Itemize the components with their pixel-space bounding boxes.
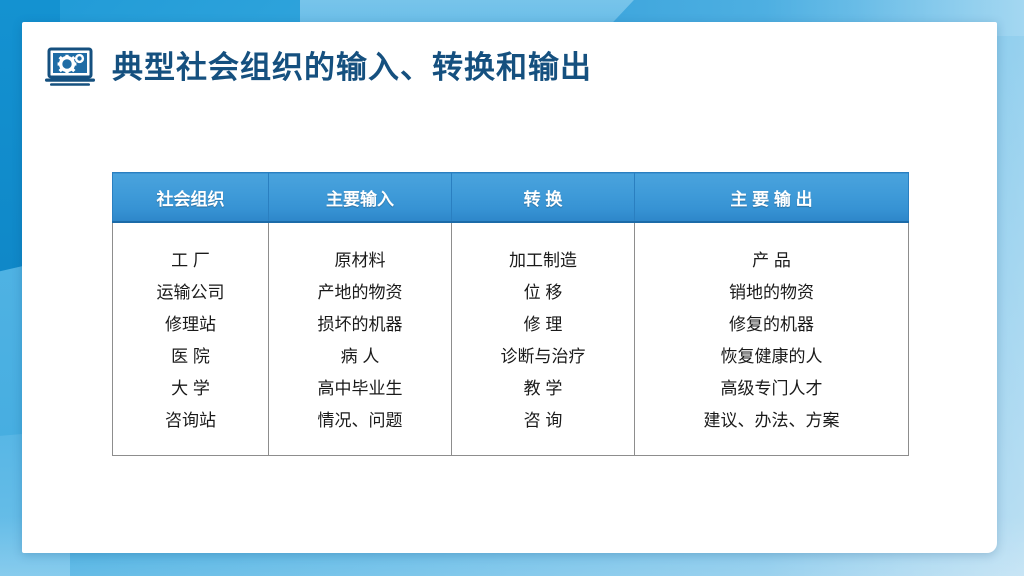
table-cell-transformation: 加工制造 位 移 修 理 诊断与治疗 教 学 咨 询 — [452, 222, 635, 456]
list-item: 病 人 — [275, 341, 445, 373]
list-item: 情况、问题 — [275, 405, 445, 437]
list-item: 工 厂 — [119, 245, 262, 277]
column-header-label: 主要输入 — [269, 185, 451, 210]
table-header: 社会组织 主要输入 转 换 主 要 输 出 — [113, 173, 909, 223]
organization-table-wrapper: 社会组织 主要输入 转 换 主 要 输 出 — [112, 172, 908, 456]
content-card: 典型社会组织的输入、转换和输出 社会组织 主要输入 — [22, 22, 997, 553]
page-title-row: 典型社会组织的输入、转换和输出 — [44, 47, 592, 87]
laptop-gear-icon — [44, 47, 98, 87]
page-title: 典型社会组织的输入、转换和输出 — [112, 52, 592, 83]
list-item: 咨 询 — [458, 405, 628, 437]
table-header-row: 社会组织 主要输入 转 换 主 要 输 出 — [113, 173, 909, 223]
list-item: 销地的物资 — [641, 277, 902, 309]
table-cell-main-output: 产 品 销地的物资 修复的机器 恢复健康的人 高级专门人才 建议、办法、方案 — [635, 222, 909, 456]
table-cell-main-input: 原材料 产地的物资 损坏的机器 病 人 高中毕业生 情况、问题 — [269, 222, 452, 456]
column-header-main-input: 主要输入 — [269, 173, 452, 223]
column-header-transformation: 转 换 — [452, 173, 635, 223]
column-header-label: 转 换 — [452, 185, 634, 210]
table-body: 工 厂 运输公司 修理站 医 院 大 学 咨询站 原材料 — [113, 222, 909, 456]
list-item: 原材料 — [275, 245, 445, 277]
column-header-label: 主 要 输 出 — [635, 185, 908, 210]
cell-item-list: 产 品 销地的物资 修复的机器 恢复健康的人 高级专门人才 建议、办法、方案 — [641, 245, 902, 437]
list-item: 位 移 — [458, 277, 628, 309]
cell-item-list: 原材料 产地的物资 损坏的机器 病 人 高中毕业生 情况、问题 — [275, 245, 445, 437]
list-item: 医 院 — [119, 341, 262, 373]
list-item: 教 学 — [458, 373, 628, 405]
cell-item-list: 加工制造 位 移 修 理 诊断与治疗 教 学 咨 询 — [458, 245, 628, 437]
column-header-social-organization: 社会组织 — [113, 173, 269, 223]
list-item: 修理站 — [119, 309, 262, 341]
table-row: 工 厂 运输公司 修理站 医 院 大 学 咨询站 原材料 — [113, 222, 909, 456]
list-item: 诊断与治疗 — [458, 341, 628, 373]
list-item: 运输公司 — [119, 277, 262, 309]
list-item: 高级专门人才 — [641, 373, 902, 405]
list-item: 修复的机器 — [641, 309, 902, 341]
list-item: 高中毕业生 — [275, 373, 445, 405]
list-item: 恢复健康的人 — [641, 341, 902, 373]
list-item: 大 学 — [119, 373, 262, 405]
column-header-main-output: 主 要 输 出 — [635, 173, 909, 223]
organization-table: 社会组织 主要输入 转 换 主 要 输 出 — [112, 172, 909, 456]
cell-item-list: 工 厂 运输公司 修理站 医 院 大 学 咨询站 — [119, 245, 262, 437]
list-item: 修 理 — [458, 309, 628, 341]
list-item: 建议、办法、方案 — [641, 405, 902, 437]
list-item: 损坏的机器 — [275, 309, 445, 341]
list-item: 产 品 — [641, 245, 902, 277]
slide-root: 典型社会组织的输入、转换和输出 社会组织 主要输入 — [0, 0, 1024, 576]
table-cell-social-organization: 工 厂 运输公司 修理站 医 院 大 学 咨询站 — [113, 222, 269, 456]
list-item: 加工制造 — [458, 245, 628, 277]
column-header-label: 社会组织 — [113, 185, 268, 210]
list-item: 咨询站 — [119, 405, 262, 437]
list-item: 产地的物资 — [275, 277, 445, 309]
